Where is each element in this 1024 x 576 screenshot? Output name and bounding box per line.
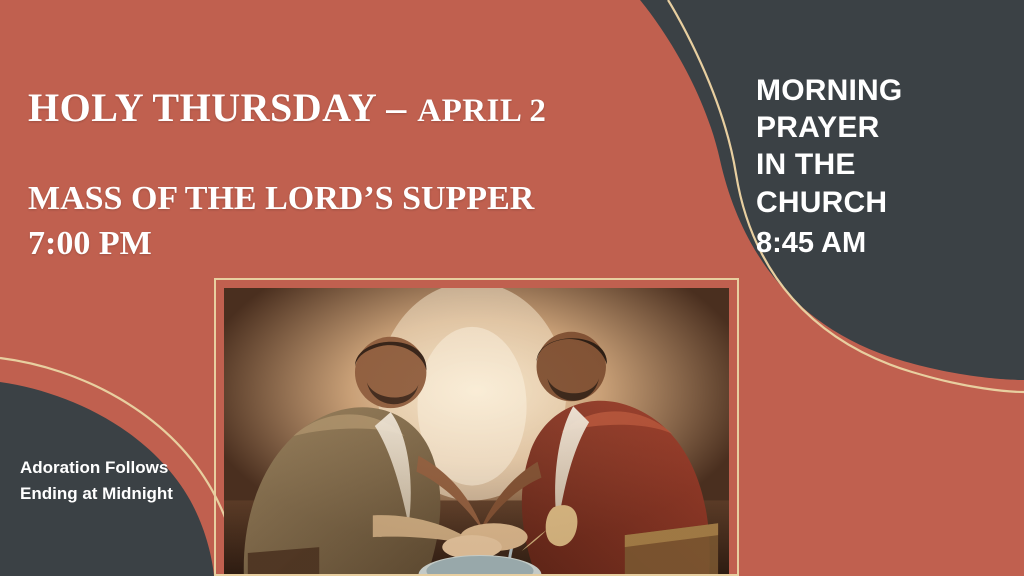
right-title-line-3: IN THE — [756, 146, 996, 183]
right-time: 8:45 AM — [756, 227, 996, 260]
right-title-line-2: PRAYER — [756, 109, 996, 146]
left-text-block: HOLY THURSDAY – APRIL 2 MASS OF THE LORD… — [28, 86, 648, 267]
headline-date: APRIL 2 — [417, 93, 546, 129]
right-text-block: MORNING PRAYER IN THE CHURCH 8:45 AM — [756, 72, 996, 260]
poster-canvas: HOLY THURSDAY – APRIL 2 MASS OF THE LORD… — [0, 0, 1024, 576]
right-title-line-1: MORNING — [756, 72, 996, 109]
subline-1: MASS OF THE LORD’S SUPPER — [28, 177, 648, 222]
headline-main: HOLY THURSDAY – — [28, 85, 417, 130]
subline-2: 7:00 PM — [28, 222, 648, 267]
right-title-line-4: CHURCH — [756, 184, 996, 221]
washing-of-the-feet-illustration — [224, 288, 729, 574]
headline: HOLY THURSDAY – APRIL 2 — [28, 86, 648, 131]
image-frame — [214, 278, 739, 576]
illustration-svg — [224, 288, 729, 574]
